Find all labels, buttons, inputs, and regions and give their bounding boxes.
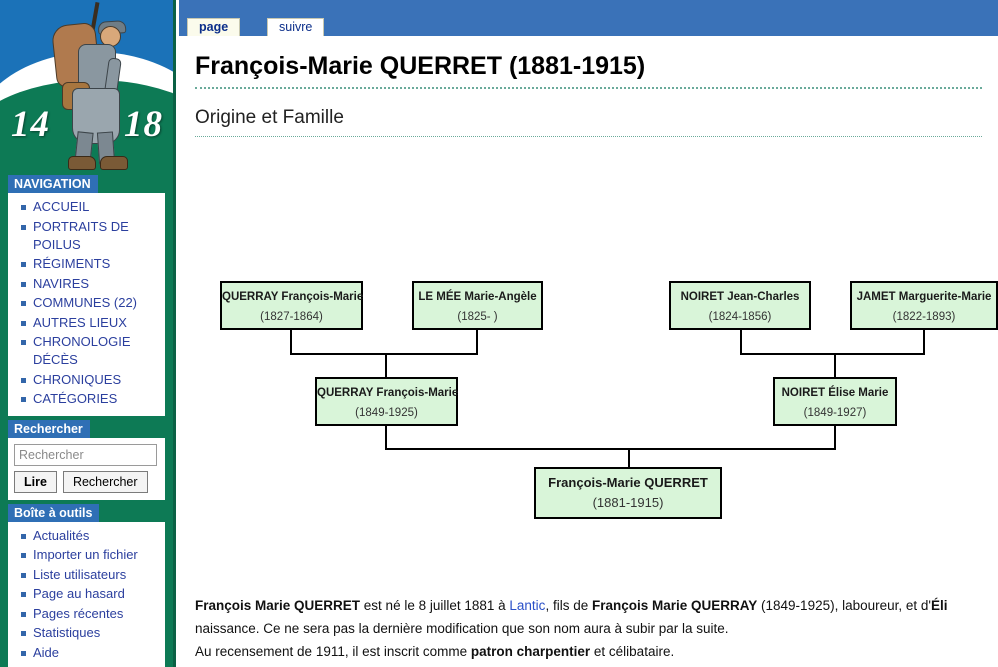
search-button-row: Lire Rechercher bbox=[14, 471, 159, 493]
search-input[interactable] bbox=[14, 444, 157, 466]
sidebar-item-autres-lieux[interactable]: AUTRES LIEUX bbox=[20, 314, 163, 332]
mother-name-bold-clipped: Éli bbox=[931, 598, 948, 613]
tree-connector-drop-gf-paternal bbox=[290, 330, 292, 353]
tree-node-name: NOIRET Élise Marie bbox=[775, 386, 895, 400]
sidebar-item-chronologie-deces[interactable]: CHRONOLOGIE DÉCÈS bbox=[20, 333, 163, 369]
father-name-bold: François Marie QUERRAY bbox=[592, 598, 757, 613]
tree-connector-drop-gm-paternal bbox=[476, 330, 478, 353]
tree-node-name: NOIRET Jean-Charles bbox=[671, 290, 809, 304]
tree-connector-drop-gf-maternal bbox=[740, 330, 742, 353]
toolbox-link-actualites[interactable]: Actualités bbox=[33, 528, 89, 543]
sidebar-item-importer-un-fichier[interactable]: Importer un fichier bbox=[20, 546, 163, 564]
tree-node-dates: (1822-1893) bbox=[852, 310, 996, 324]
tree-node-dates: (1881-1915) bbox=[536, 496, 720, 510]
sidebar-item-actualites[interactable]: Actualités bbox=[20, 527, 163, 545]
tree-node-name: LE MÉE Marie-Angèle bbox=[414, 290, 541, 304]
census-text-tail: et célibataire. bbox=[590, 644, 674, 659]
tab-page[interactable]: page bbox=[187, 18, 240, 36]
occupation-bold: patron charpentier bbox=[471, 644, 590, 659]
sidebar-link-portraits-de-poilus[interactable]: PORTRAITS DE POILUS bbox=[33, 219, 129, 252]
filiation-text: , fils de bbox=[545, 598, 592, 613]
tree-node-name: JAMET Marguerite-Marie bbox=[852, 290, 996, 304]
sidebar-link-accueil[interactable]: ACCUEIL bbox=[33, 199, 89, 214]
sidebar-link-categories[interactable]: CATÉGORIES bbox=[33, 391, 117, 406]
sidebar-link-autres-lieux[interactable]: AUTRES LIEUX bbox=[33, 315, 127, 330]
sidebar-item-chroniques[interactable]: CHRONIQUES bbox=[20, 371, 163, 389]
sidebar-item-portraits-de-poilus[interactable]: PORTRAITS DE POILUS bbox=[20, 218, 163, 254]
tree-node-grandfather-maternal[interactable]: NOIRET Jean-Charles (1824-1856) bbox=[669, 281, 811, 330]
read-button[interactable]: Lire bbox=[14, 471, 57, 493]
tree-connector-drop-father bbox=[385, 426, 387, 448]
tree-connector-bar-parents bbox=[385, 448, 836, 450]
tree-node-dates: (1825- ) bbox=[414, 310, 541, 324]
tree-node-name: QUERRAY François-Marie bbox=[317, 386, 456, 400]
sidebar-link-chroniques[interactable]: CHRONIQUES bbox=[33, 372, 121, 387]
toolbox-link-statistiques[interactable]: Statistiques bbox=[33, 625, 100, 640]
sidebar: 14 18 NAVIGATION ACCUEIL PORTRAITS DE PO… bbox=[0, 0, 176, 667]
tree-connector-drop-to-subject bbox=[628, 448, 630, 467]
navigation-title: NAVIGATION bbox=[8, 175, 98, 193]
family-tree-diagram: QUERRAY François-Marie (1827-1864) LE MÉ… bbox=[179, 137, 998, 532]
father-detail-text: (1849-1925), laboureur, et d' bbox=[757, 598, 931, 613]
sidebar-link-regiments[interactable]: RÉGIMENTS bbox=[33, 256, 110, 271]
sidebar-item-navires[interactable]: NAVIRES bbox=[20, 275, 163, 293]
tree-node-mother[interactable]: NOIRET Élise Marie (1849-1927) bbox=[773, 377, 897, 426]
toolbox-link-pages-recentes[interactable]: Pages récentes bbox=[33, 606, 123, 621]
sidebar-item-page-au-hasard[interactable]: Page au hasard bbox=[20, 585, 163, 603]
sidebar-link-chronologie-deces[interactable]: CHRONOLOGIE DÉCÈS bbox=[33, 334, 131, 367]
sidebar-item-categories[interactable]: CATÉGORIES bbox=[20, 390, 163, 408]
search-portlet: Rechercher Lire Rechercher bbox=[0, 420, 173, 500]
sidebar-link-communes[interactable]: COMMUNES (22) bbox=[33, 295, 137, 310]
sidebar-item-regiments[interactable]: RÉGIMENTS bbox=[20, 255, 163, 273]
sidebar-item-accueil[interactable]: ACCUEIL bbox=[20, 198, 163, 216]
page-title: François-Marie QUERRET (1881-1915) bbox=[195, 52, 982, 89]
tree-node-dates: (1849-1925) bbox=[317, 406, 456, 420]
navigation-list: ACCUEIL PORTRAITS DE POILUS RÉGIMENTS NA… bbox=[10, 198, 163, 408]
soldier-icon bbox=[44, 4, 140, 174]
tree-connector-drop-to-father bbox=[385, 353, 387, 377]
article-body: François Marie QUERRET est né le 8 juill… bbox=[179, 596, 998, 665]
tree-connector-drop-to-mother bbox=[834, 353, 836, 377]
search-button[interactable]: Rechercher bbox=[63, 471, 148, 493]
tree-connector-drop-gm-maternal bbox=[923, 330, 925, 353]
navigation-body: ACCUEIL PORTRAITS DE POILUS RÉGIMENTS NA… bbox=[8, 193, 165, 416]
toolbox-title: Boîte à outils bbox=[8, 504, 99, 522]
sidebar-item-liste-utilisateurs[interactable]: Liste utilisateurs bbox=[20, 566, 163, 584]
toolbox-link-importer-un-fichier[interactable]: Importer un fichier bbox=[33, 547, 138, 562]
navigation-portlet: NAVIGATION ACCUEIL PORTRAITS DE POILUS R… bbox=[0, 175, 173, 416]
paragraph-birth: François Marie QUERRET est né le 8 juill… bbox=[195, 596, 998, 616]
section-heading-origine-et-famille: Origine et Famille bbox=[195, 107, 982, 137]
content-area: François-Marie QUERRET (1881-1915) Origi… bbox=[179, 36, 998, 667]
sidebar-item-statistiques[interactable]: Statistiques bbox=[20, 624, 163, 642]
tab-suivre[interactable]: suivre bbox=[267, 18, 324, 36]
search-title: Rechercher bbox=[8, 420, 90, 438]
tree-connector-bar-paternal bbox=[290, 353, 478, 355]
tree-node-dates: (1827-1864) bbox=[222, 310, 361, 324]
top-bar: page suivre bbox=[179, 0, 998, 36]
sidebar-item-pages-recentes[interactable]: Pages récentes bbox=[20, 605, 163, 623]
toolbox-body: Actualités Importer un fichier Liste uti… bbox=[8, 522, 165, 667]
paragraph-census: Au recensement de 1911, il est inscrit c… bbox=[195, 642, 998, 662]
toolbox-link-page-au-hasard[interactable]: Page au hasard bbox=[33, 586, 125, 601]
tree-node-grandmother-paternal[interactable]: LE MÉE Marie-Angèle (1825- ) bbox=[412, 281, 543, 330]
tree-node-subject[interactable]: François-Marie QUERRET (1881-1915) bbox=[534, 467, 722, 519]
toolbox-link-liste-utilisateurs[interactable]: Liste utilisateurs bbox=[33, 567, 126, 582]
tree-connector-bar-maternal bbox=[740, 353, 925, 355]
sidebar-link-navires[interactable]: NAVIRES bbox=[33, 276, 89, 291]
tree-node-grandfather-paternal[interactable]: QUERRAY François-Marie (1827-1864) bbox=[220, 281, 363, 330]
subject-name-bold: François Marie QUERRET bbox=[195, 598, 360, 613]
tree-connector-drop-mother bbox=[834, 426, 836, 448]
tree-node-grandmother-maternal[interactable]: JAMET Marguerite-Marie (1822-1893) bbox=[850, 281, 998, 330]
sidebar-item-aide[interactable]: Aide bbox=[20, 644, 163, 662]
tree-node-name: François-Marie QUERRET bbox=[536, 476, 720, 490]
search-body: Lire Rechercher bbox=[8, 438, 165, 500]
tree-node-father[interactable]: QUERRAY François-Marie (1849-1925) bbox=[315, 377, 458, 426]
site-logo[interactable]: 14 18 bbox=[0, 0, 176, 175]
tree-node-dates: (1849-1927) bbox=[775, 406, 895, 420]
census-text-lead: Au recensement de 1911, il est inscrit c… bbox=[195, 644, 471, 659]
sidebar-item-communes[interactable]: COMMUNES (22) bbox=[20, 294, 163, 312]
toolbox-list: Actualités Importer un fichier Liste uti… bbox=[10, 527, 163, 662]
paragraph-name-change: naissance. Ce ne sera pas la dernière mo… bbox=[195, 619, 998, 639]
logo-year-start: 14 bbox=[11, 103, 50, 146]
link-lantic[interactable]: Lantic bbox=[509, 598, 545, 613]
birth-text: est né le 8 juillet 1881 à bbox=[360, 598, 509, 613]
toolbox-link-aide[interactable]: Aide bbox=[33, 645, 59, 660]
toolbox-portlet: Boîte à outils Actualités Importer un fi… bbox=[0, 504, 173, 667]
logo-year-end: 18 bbox=[124, 103, 163, 146]
tree-node-dates: (1824-1856) bbox=[671, 310, 809, 324]
tree-node-name: QUERRAY François-Marie bbox=[222, 290, 361, 304]
